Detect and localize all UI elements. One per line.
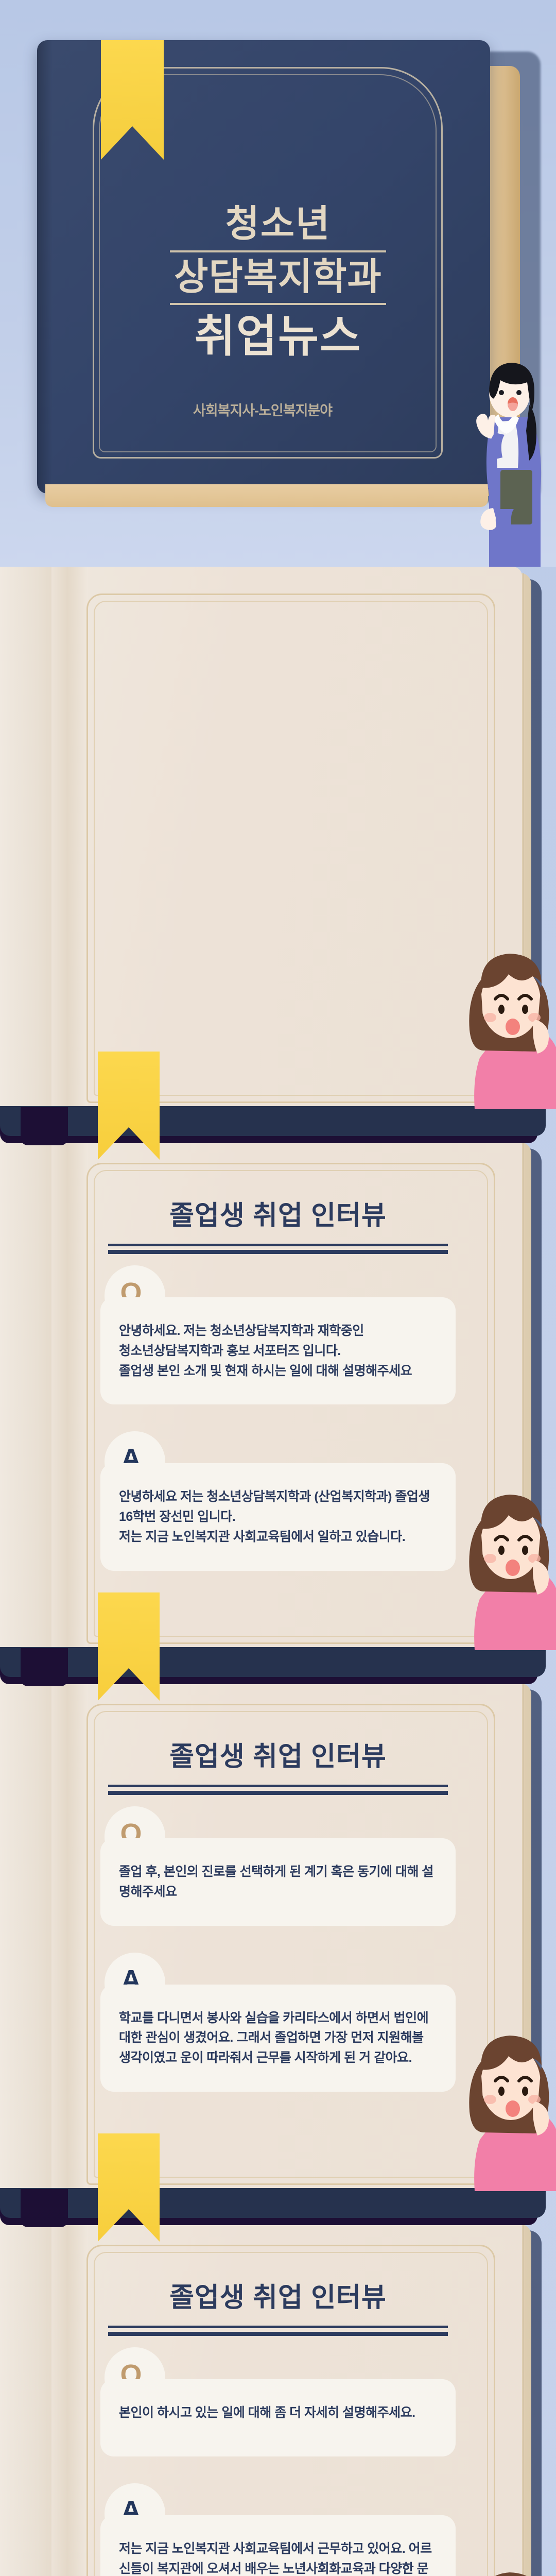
question-badge-row: Q. [100,2347,456,2379]
student-character-illustration [449,1465,556,1650]
book-clasp [21,2189,68,2227]
cover-title-line1: 청소년 [62,204,494,245]
book-base [0,2188,546,2218]
book-clasp [21,1107,68,1145]
section-title: 졸업생 취업 인터뷰 [0,1136,556,1232]
student-character-illustration [449,2006,556,2191]
answer-badge-row: A. [100,1953,456,1985]
section-title-rules [108,1244,448,1254]
student-character-illustration [449,924,556,1109]
qa-spacer [100,1926,456,1953]
qa-block: Q. 본인이 하시고 있는 일에 대해 좀 더 자세히 설명해주세요. A. 저… [100,2336,456,2576]
student-character-illustration [449,2543,556,2576]
interview-section-1: 졸업생 취업 인터뷰 Q. 안녕하세요. 저는 청소년상담복지학과 재학중인 청… [0,567,556,1136]
answer-badge-row: A. [100,1431,456,1463]
qa-spacer [100,2456,456,2483]
section-title: 졸업생 취업 인터뷰 [0,2218,556,2314]
book-base [0,1106,546,1136]
qa-spacer [100,1404,456,1431]
answer-badge-row: A. [100,2483,456,2515]
book-clasp [21,1648,68,1686]
qa-block: Q. 안녕하세요. 저는 청소년상담복지학과 재학중인 청소년상담복지학과 홍보… [100,1254,456,1571]
cover-title-line3: 취업뉴스 [62,312,494,361]
book-base [0,1647,546,1677]
cover-title-line2: 상담복지학과 [62,257,494,298]
answer-bubble: 학교를 다니면서 봉사와 실습을 카리타스에서 하면서 법인에 대한 관심이 생… [100,1985,456,2092]
question-bubble: 본인이 하시고 있는 일에 대해 좀 더 자세히 설명해주세요. [100,2379,456,2456]
cover-section: 청소년 상담복지학과 취업뉴스 사회복지사-노인복지분야 [0,0,556,567]
question-badge-row: Q. [100,1265,456,1297]
cover-title: 청소년 상담복지학과 취업뉴스 [0,204,556,361]
qa-block: Q. 졸업 후, 본인의 진로를 선택하게 된 계기 혹은 동기에 대해 설명해… [100,1795,456,2092]
question-bubble: 졸업 후, 본인의 진로를 선택하게 된 계기 혹은 동기에 대해 설명해주세요 [100,1838,456,1926]
question-bubble: 안녕하세요. 저는 청소년상담복지학과 재학중인 청소년상담복지학과 홍보 서포… [100,1297,456,1404]
question-badge-row: Q. [100,1806,456,1838]
answer-bubble: 저는 지금 노인복지관 사회교육팀에서 근무하고 있어요. 어르신들이 복지관에… [100,2515,456,2576]
student-character-illustration [444,361,547,567]
book-page-fold [51,567,88,1123]
cover-bottom-page-edge [45,484,488,507]
answer-bubble: 안녕하세요 저는 청소년상담복지학과 (산업복지학과) 졸업생 16학번 장선민… [100,1463,456,1570]
section-title-rules [108,1785,448,1795]
section-title: 졸업생 취업 인터뷰 [0,1677,556,1773]
cover-title-rule-bottom [170,303,386,305]
section-title-rules [108,2326,448,2336]
cover-title-rule-top [170,250,386,252]
